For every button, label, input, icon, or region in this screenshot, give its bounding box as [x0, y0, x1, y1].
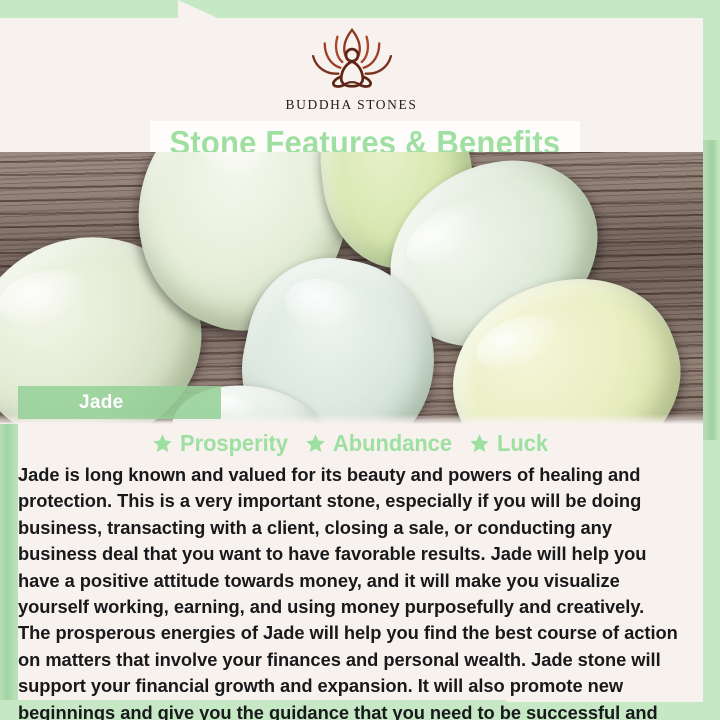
keyword-list: Prosperity Abundance Luck — [0, 430, 703, 457]
star-icon — [152, 433, 173, 454]
right-green-stripe — [703, 140, 720, 440]
lotus-meditation-figure-icon — [293, 24, 411, 96]
top-diagonal-notch — [178, 0, 220, 19]
keyword-item: Luck — [469, 430, 551, 457]
infographic-page: BUDDHA STONES Stone Features & Benefits … — [0, 0, 720, 720]
brand-name: BUDDHA STONES — [286, 97, 418, 113]
keyword-label: Abundance — [333, 430, 452, 457]
keyword-label: Luck — [497, 430, 548, 457]
photo-caption-text: Jade — [18, 392, 124, 414]
keyword-label: Prosperity — [180, 430, 288, 457]
star-icon — [305, 433, 326, 454]
star-icon — [469, 433, 490, 454]
keyword-item: Abundance — [305, 430, 458, 457]
photo-caption-banner: Jade — [18, 386, 221, 419]
brand-logo: BUDDHA STONES — [0, 24, 703, 113]
keyword-item: Prosperity — [152, 430, 294, 457]
description-paragraph: Jade is long known and valued for its be… — [18, 462, 680, 720]
jade-stones-photo — [0, 152, 703, 424]
brand-header: BUDDHA STONES Stone Features & Benefits — [0, 18, 703, 155]
